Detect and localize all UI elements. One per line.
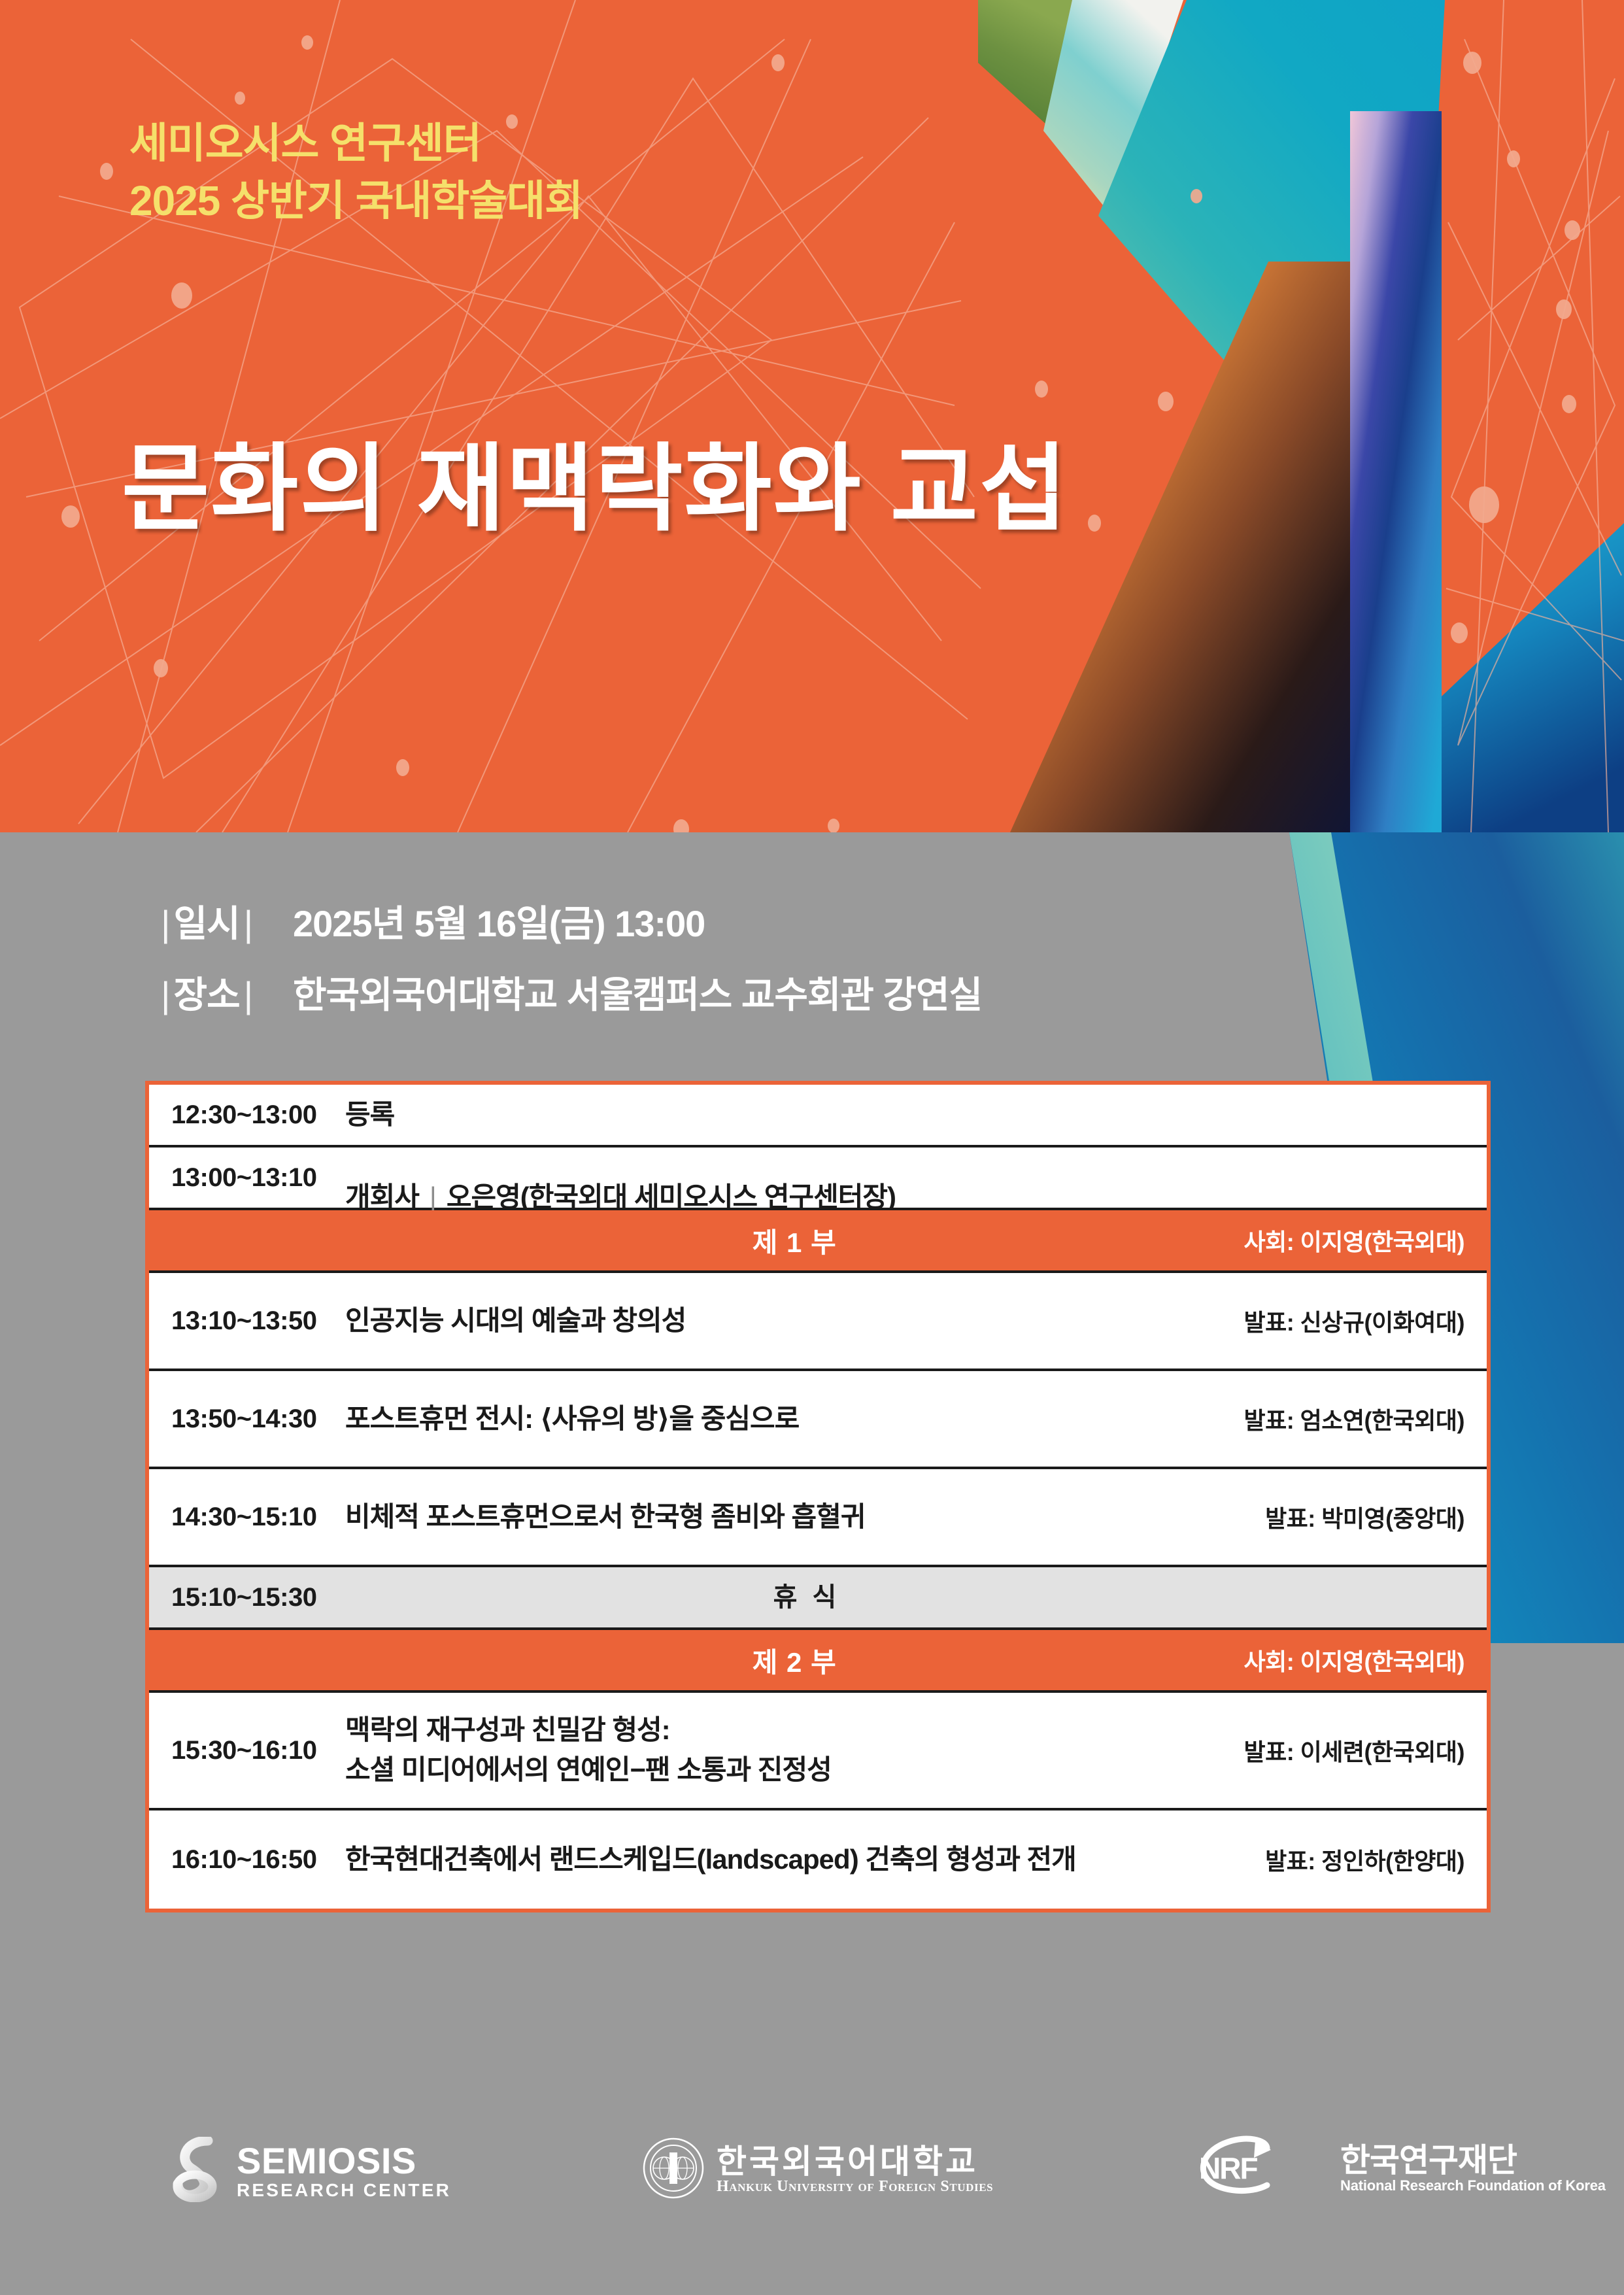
row-subject: 등록 — [345, 1095, 1464, 1135]
divider-left-date: | — [157, 903, 174, 944]
row-speaker: 발표: 신상규(이화여대) — [1243, 1304, 1487, 1338]
table-row: 14:30~15:10 비체적 포스트휴먼으로서 한국형 좀비와 흡혈귀 발표:… — [149, 1469, 1487, 1567]
row-time: 13:00~13:10 — [149, 1163, 345, 1193]
row-speaker: 발표: 엄소연(한국외대) — [1243, 1402, 1487, 1436]
event-venue-row: |장소| 한국외국어대학교 서울캠퍼스 교수회관 강연실 — [157, 966, 982, 1019]
page-title: 문화의 재맥락화와 교섭 — [122, 437, 1068, 542]
event-date-label-group: |일시| — [157, 894, 281, 947]
event-venue-value: 한국외국어대학교 서울캠퍼스 교수회관 강연실 — [293, 966, 982, 1019]
logo-hufs: 한국외국어대학교 Hankuk University of Foreign St… — [641, 2135, 993, 2204]
logo-semiosis: SEMIOSIS RESEARCH CENTER — [169, 2137, 451, 2205]
part-chair: 사회: 이지영(한국외대) — [1243, 1223, 1487, 1257]
row-time: 13:50~14:30 — [149, 1404, 345, 1434]
logo-hufs-name-ko: 한국외국어대학교 — [717, 2145, 993, 2179]
table-row: 16:10~16:50 한국현대건축에서 랜드스케입드(landscaped) … — [149, 1810, 1487, 1909]
divider-right-venue: | — [240, 974, 257, 1015]
row-subject-primary: 개회사 — [345, 1181, 419, 1212]
event-date-row: |일시| 2025년 5월 16일(금) 13:00 — [157, 894, 982, 947]
logo-hufs-name-en: Hankuk University of Foreign Studies — [717, 2179, 993, 2195]
logo-nrf-name-ko: 한국연구재단 — [1340, 2143, 1606, 2178]
table-row-part-header: 제 2 부 사회: 이지영(한국외대) — [149, 1630, 1487, 1693]
row-time: 16:10~16:50 — [149, 1845, 345, 1875]
table-row: 13:10~13:50 인공지능 시대의 예술과 창의성 발표: 신상규(이화여… — [149, 1273, 1487, 1371]
part-chair: 사회: 이지영(한국외대) — [1243, 1643, 1487, 1677]
part-title: 제 2 부 — [149, 1640, 1243, 1680]
table-row: 13:50~14:30 포스트휴먼 전시: ⟨사유의 방⟩을 중심으로 발표: … — [149, 1371, 1487, 1469]
row-time: 15:30~16:10 — [149, 1736, 345, 1765]
row-subject-secondary: 오은영(한국외대 세미오시스 연구센터장) — [447, 1181, 896, 1212]
row-speaker: 발표: 정인하(한양대) — [1265, 1843, 1487, 1877]
divider-right-date: | — [240, 903, 257, 944]
row-time: 13:10~13:50 — [149, 1306, 345, 1336]
row-time: 15:10~15:30 — [149, 1583, 345, 1612]
row-subject: 비체적 포스트휴먼으로서 한국형 좀비와 흡혈귀 — [345, 1497, 1265, 1537]
row-time: 12:30~13:00 — [149, 1100, 345, 1130]
row-time: 14:30~15:10 — [149, 1503, 345, 1532]
table-row-part-header: 제 1 부 사회: 이지영(한국외대) — [149, 1210, 1487, 1273]
logo-nrf-name-en: National Research Foundation of Korea — [1340, 2178, 1606, 2193]
event-date-label: 일시 — [174, 903, 240, 944]
row-subject: 인공지능 시대의 예술과 창의성 — [345, 1301, 1243, 1341]
sponsor-logo-bar: SEMIOSIS RESEARCH CENTER 한국외국어대학교 — [0, 2118, 1624, 2262]
logo-semiosis-text: SEMIOSIS RESEARCH CENTER — [237, 2142, 451, 2200]
event-info: |일시| 2025년 5월 16일(금) 13:00 |장소| 한국외국어대학교… — [157, 894, 982, 1037]
part-title: 제 1 부 — [149, 1221, 1243, 1261]
event-venue-label-group: |장소| — [157, 966, 281, 1019]
event-kicker: 세미오시스 연구센터 2025 상반기 국내학술대회 — [129, 114, 583, 230]
infinity-loop-icon — [169, 2137, 226, 2205]
logo-nrf-text: 한국연구재단 National Research Foundation of K… — [1340, 2143, 1606, 2193]
nrf-swoosh-icon: NRF — [1190, 2135, 1330, 2201]
logo-semiosis-subtitle: RESEARCH CENTER — [237, 2181, 451, 2200]
logo-nrf: NRF 한국연구재단 National Research Foundation … — [1190, 2135, 1606, 2201]
divider-left-venue: | — [157, 974, 174, 1015]
poster-header-band: 세미오시스 연구센터 2025 상반기 국내학술대회 문화의 재맥락화와 교섭 — [0, 0, 1624, 832]
table-row-break: 15:10~15:30 휴 식 — [149, 1567, 1487, 1630]
hufs-seal-icon — [641, 2135, 706, 2204]
row-speaker: 발표: 박미영(중앙대) — [1265, 1500, 1487, 1534]
logo-hufs-text: 한국외국어대학교 Hankuk University of Foreign St… — [717, 2145, 993, 2196]
row-subject: 포스트휴먼 전시: ⟨사유의 방⟩을 중심으로 — [345, 1399, 1243, 1439]
row-speaker: 발표: 이세련(한국외대) — [1243, 1733, 1487, 1767]
row-subject: 개회사|오은영(한국외대 세미오시스 연구센터장) — [345, 1138, 1464, 1217]
table-row: 13:00~13:10 개회사|오은영(한국외대 세미오시스 연구센터장) — [149, 1147, 1487, 1210]
table-row: 15:30~16:10 맥락의 재구성과 친밀감 형성: 소셜 미디어에서의 연… — [149, 1693, 1487, 1810]
row-subject: 맥락의 재구성과 친밀감 형성: 소셜 미디어에서의 연예인−팬 소통과 진정성 — [345, 1710, 1243, 1790]
conference-poster: 세미오시스 연구센터 2025 상반기 국내학술대회 문화의 재맥락화와 교섭 — [0, 0, 1624, 2295]
event-venue-label: 장소 — [174, 974, 240, 1015]
logo-semiosis-name: SEMIOSIS — [237, 2142, 451, 2181]
row-subject: 휴 식 — [345, 1578, 1464, 1616]
schedule-table: 12:30~13:00 등록 13:00~13:10 개회사|오은영(한국외대 … — [145, 1081, 1491, 1912]
row-subject: 한국현대건축에서 랜드스케입드(landscaped) 건축의 형성과 전개 — [345, 1840, 1265, 1880]
nrf-abbr-text: NRF — [1199, 2151, 1257, 2185]
event-date-value: 2025년 5월 16일(금) 13:00 — [293, 894, 705, 947]
